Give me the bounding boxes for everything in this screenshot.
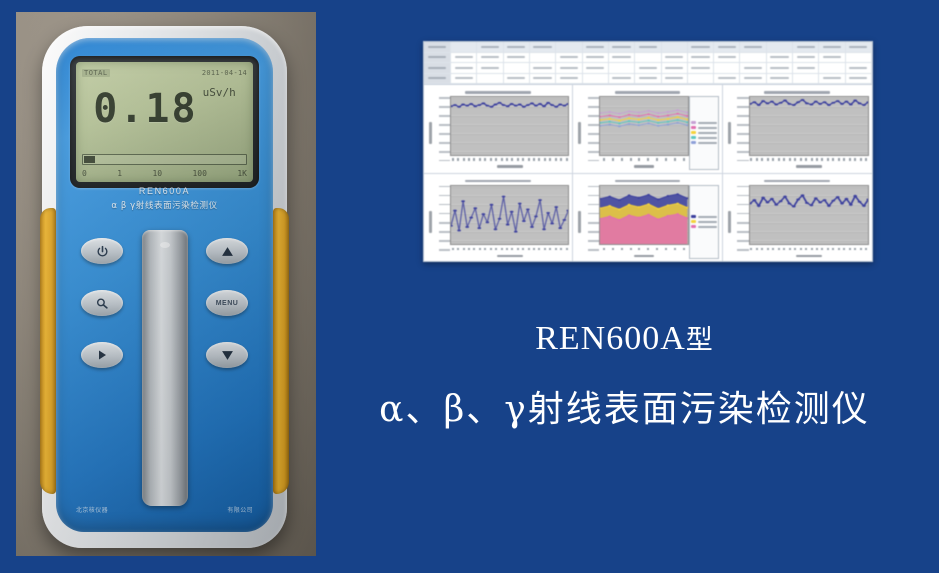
xlabel-text <box>796 255 822 258</box>
table-cell <box>662 63 688 73</box>
chart-plot-area <box>599 96 688 156</box>
table-row-header <box>424 74 451 84</box>
xtick-label <box>501 158 503 161</box>
table-cell <box>635 53 661 63</box>
device-footer-right: 有限公司 <box>227 505 253 514</box>
chart-cell[interactable] <box>723 174 872 263</box>
table-cell <box>451 42 477 52</box>
ytick-label <box>737 231 748 233</box>
xtick-label <box>656 248 658 251</box>
chart-legend <box>689 185 719 260</box>
cell-text <box>481 46 499 48</box>
chart-title <box>726 178 869 185</box>
table-cell <box>662 53 688 63</box>
cell-text <box>533 46 551 48</box>
table-cell <box>740 53 766 63</box>
ytick-label <box>737 213 748 215</box>
cell-text <box>849 46 867 48</box>
xtick-label <box>468 248 470 251</box>
lcd-scale-tick: 1 <box>117 169 122 178</box>
ylabel-text <box>429 211 432 233</box>
table-cell <box>767 74 793 84</box>
software-screenshot-thumbnail <box>423 41 873 262</box>
table-cell <box>530 42 556 52</box>
xtick-label <box>816 248 818 251</box>
chart-cell[interactable] <box>573 174 722 263</box>
xtick-label <box>479 248 481 251</box>
xtick-label <box>555 248 557 251</box>
table-cell <box>819 53 845 63</box>
legend-item <box>691 136 717 139</box>
cell-text <box>770 56 788 58</box>
chart-plot-wrapper <box>450 185 569 260</box>
table-cell <box>504 53 530 63</box>
chart-xaxis <box>749 245 869 253</box>
legend-swatch <box>691 225 696 228</box>
ytick-label <box>439 151 450 153</box>
legend-item <box>691 220 717 223</box>
ytick-label <box>439 160 450 162</box>
xtick-label <box>630 158 632 161</box>
cell-text <box>665 77 683 79</box>
table-cell <box>556 63 582 73</box>
xtick-label <box>511 248 513 251</box>
table-cell <box>635 74 661 84</box>
xtick-label <box>865 158 867 161</box>
table-cell <box>714 53 740 63</box>
cell-text <box>533 67 551 69</box>
ytick-label <box>588 106 599 108</box>
chart-title-text <box>764 180 830 183</box>
chart-plot-area <box>450 185 569 246</box>
xtick-label <box>468 158 470 161</box>
table-cell <box>504 63 530 73</box>
table-cell <box>819 74 845 84</box>
xtick-label <box>612 158 614 161</box>
ytick-label <box>439 186 450 188</box>
chart-title <box>576 178 718 185</box>
xtick-label <box>811 248 813 251</box>
xtick-label <box>560 158 562 161</box>
xtick-label <box>538 158 540 161</box>
xtick-label <box>789 158 791 161</box>
xtick-label <box>860 248 862 251</box>
chart-plot-area <box>450 96 569 156</box>
xtick-label <box>630 248 632 251</box>
table-cell <box>556 42 582 52</box>
table-cell <box>609 53 635 63</box>
xtick-label <box>767 158 769 161</box>
ytick-label <box>439 195 450 197</box>
xtick-label <box>838 248 840 251</box>
legend-item <box>691 126 717 129</box>
xtick-label <box>457 158 459 161</box>
chart-xlabel <box>749 253 869 259</box>
xtick-label <box>683 158 685 161</box>
ytick-label <box>439 213 450 215</box>
cell-text <box>718 56 736 58</box>
chart-plot-area <box>749 185 869 246</box>
chart-yaxis <box>583 96 599 170</box>
xtick-label <box>544 248 546 251</box>
xtick-label <box>506 248 508 251</box>
ytick-label <box>439 222 450 224</box>
table-cell <box>740 63 766 73</box>
legend-label <box>698 216 717 218</box>
cell-text <box>823 56 841 58</box>
xtick-label <box>603 158 605 161</box>
cell-text <box>665 56 683 58</box>
xtick-label <box>854 248 856 251</box>
legend-label <box>698 132 717 134</box>
ylabel-text <box>578 211 581 233</box>
page-title-line2: α、β、γ射线表面污染检测仪 <box>318 380 931 432</box>
table-row <box>424 74 872 85</box>
table-cell <box>609 63 635 73</box>
chart-series-svg <box>600 97 687 155</box>
chart-cell[interactable] <box>424 174 573 263</box>
xtick-label <box>457 248 459 251</box>
cell-text <box>797 46 815 48</box>
ytick-label <box>737 204 748 206</box>
table-cell <box>740 42 766 52</box>
cell-text <box>507 56 525 58</box>
xtick-label <box>490 158 492 161</box>
device-footer-left: 北京核仪器 <box>76 505 108 514</box>
chart-grid <box>424 85 872 262</box>
lcd-statusbar: TOTAL 2011-04-14 <box>82 66 247 79</box>
chart-xaxis <box>599 156 688 164</box>
lcd-scale-tick: 0 <box>82 169 87 178</box>
lcd-bezel: TOTAL 2011-04-14 0.18 uSv/h 0 1 10 10 <box>70 56 259 188</box>
cell-text <box>560 56 578 58</box>
up-key[interactable] <box>206 238 248 264</box>
ytick-label <box>439 124 450 126</box>
ytick-label <box>588 133 599 135</box>
lcd-reading: 0.18 uSv/h <box>76 80 253 138</box>
xlabel-text <box>634 165 654 168</box>
xtick-label <box>484 248 486 251</box>
ytick-label <box>737 142 748 144</box>
cell-text <box>455 77 473 79</box>
xtick-label <box>772 158 774 161</box>
xtick-label <box>538 248 540 251</box>
cell-text <box>744 77 762 79</box>
xtick-label <box>800 158 802 161</box>
chart-title <box>576 89 718 96</box>
cell-text <box>428 56 447 58</box>
chart-body <box>427 185 569 260</box>
table-cell <box>793 53 819 63</box>
table-row-header <box>424 53 451 63</box>
xtick-label <box>838 158 840 161</box>
xtick-label <box>750 248 752 251</box>
table-cell <box>688 53 714 63</box>
table-cell <box>477 63 503 73</box>
lcd-scale-tick: 1K <box>237 169 247 178</box>
cell-text <box>612 46 630 48</box>
cell-text <box>481 56 499 58</box>
chart-cell[interactable] <box>573 85 722 174</box>
chart-body <box>576 185 718 260</box>
xtick-label <box>473 158 475 161</box>
table-cell <box>635 63 661 73</box>
chart-body <box>427 96 569 170</box>
table-cell <box>740 74 766 84</box>
xtick-label <box>566 158 568 161</box>
cell-text <box>797 67 815 69</box>
xtick-label <box>549 158 551 161</box>
xtick-label <box>511 158 513 161</box>
lcd-datetime: 2011-04-14 <box>202 69 247 77</box>
device-faceplate: TOTAL 2011-04-14 0.18 uSv/h 0 1 10 10 <box>56 38 273 532</box>
cell-text <box>691 67 709 69</box>
table-cell <box>477 74 503 84</box>
ytick-label <box>588 124 599 126</box>
ytick-label <box>439 106 450 108</box>
cell-text <box>849 77 867 79</box>
xtick-label <box>603 248 605 251</box>
device-footer: 北京核仪器 有限公司 <box>56 505 273 514</box>
ytick-label <box>588 151 599 153</box>
table-cell <box>504 42 530 52</box>
chart-xaxis <box>749 156 869 164</box>
table-row <box>424 63 872 74</box>
table-cell <box>556 74 582 84</box>
xtick-label <box>463 248 465 251</box>
ytick-label <box>737 186 748 188</box>
chart-plot-wrapper <box>599 185 688 260</box>
xtick-label <box>621 158 623 161</box>
cell-text <box>639 46 657 48</box>
ytick-label <box>588 97 599 99</box>
triangle-down-icon <box>221 350 234 361</box>
xtick-label <box>794 158 796 161</box>
xtick-label <box>647 248 649 251</box>
table-cell <box>477 53 503 63</box>
page-title-line1: REN600A型 <box>318 318 931 358</box>
legend-swatch <box>691 121 696 124</box>
chart-cell[interactable] <box>723 85 872 174</box>
ytick-label <box>588 160 599 162</box>
chart-title-text <box>465 180 530 183</box>
table-cell <box>846 42 872 52</box>
cell-text <box>533 77 551 79</box>
play-icon <box>96 349 108 361</box>
cell-text <box>481 67 499 69</box>
search-key[interactable] <box>81 290 123 316</box>
legend-swatch <box>691 141 696 144</box>
table-cell <box>451 63 477 73</box>
ytick-label <box>737 151 748 153</box>
chart-yaxis <box>434 96 450 170</box>
legend-item <box>691 225 717 228</box>
xtick-label <box>783 248 785 251</box>
cell-text <box>455 67 473 69</box>
xtick-label <box>517 248 519 251</box>
cell-text <box>665 67 683 69</box>
cell-text <box>560 67 578 69</box>
lcd-screen: TOTAL 2011-04-14 0.18 uSv/h 0 1 10 10 <box>76 62 253 182</box>
xtick-label <box>555 158 557 161</box>
keypad-column-left <box>74 238 130 368</box>
cell-text <box>639 77 657 79</box>
table-cell <box>714 42 740 52</box>
xtick-label <box>533 158 535 161</box>
title-block: REN600A型 α、β、γ射线表面污染检测仪 <box>318 318 931 432</box>
table-cell <box>504 74 530 84</box>
legend-item <box>691 141 717 144</box>
table-cell <box>688 63 714 73</box>
xtick-label <box>560 248 562 251</box>
ytick-label <box>439 231 450 233</box>
chart-ylabel <box>726 96 733 170</box>
table-cell <box>583 63 609 73</box>
table-cell <box>583 74 609 84</box>
power-key[interactable] <box>81 238 123 264</box>
chart-body <box>576 96 718 170</box>
table-cell <box>530 53 556 63</box>
legend-item <box>691 131 717 134</box>
data-table <box>424 42 872 85</box>
chart-ylabel <box>726 185 733 260</box>
play-key[interactable] <box>81 342 123 368</box>
xtick-label <box>761 158 763 161</box>
ytick-label <box>737 97 748 99</box>
table-cell <box>635 42 661 52</box>
table-cell <box>793 74 819 84</box>
xtick-label <box>805 158 807 161</box>
cell-text <box>586 56 604 58</box>
chart-body <box>726 96 869 170</box>
chart-xlabel <box>599 253 688 259</box>
xtick-label <box>506 158 508 161</box>
xtick-label <box>854 158 856 161</box>
table-cell <box>583 42 609 52</box>
cell-text <box>797 56 815 58</box>
table-row <box>424 42 872 53</box>
chart-title-text <box>615 91 680 94</box>
xtick-label <box>811 158 813 161</box>
cell-text <box>639 67 657 69</box>
xtick-label <box>533 248 535 251</box>
table-cell <box>556 53 582 63</box>
table-cell <box>662 74 688 84</box>
table-cell <box>767 63 793 73</box>
table-cell <box>767 53 793 63</box>
xtick-label <box>849 158 851 161</box>
xtick-label <box>544 158 546 161</box>
xtick-label <box>549 248 551 251</box>
menu-key-label: MENU <box>216 300 239 307</box>
cell-text <box>586 46 604 48</box>
chart-ylabel <box>576 185 583 260</box>
chart-title <box>726 89 869 96</box>
table-cell <box>583 53 609 63</box>
chart-ylabel <box>427 96 434 170</box>
xtick-label <box>463 158 465 161</box>
xtick-label <box>816 158 818 161</box>
device-keypad: MENU <box>56 238 273 418</box>
xtick-label <box>490 248 492 251</box>
keypad-column-right: MENU <box>199 238 255 368</box>
chart-title-text <box>764 91 830 94</box>
chart-ylabel <box>427 185 434 260</box>
xtick-label <box>528 158 530 161</box>
ytick-label <box>737 124 748 126</box>
chart-series-svg <box>750 186 868 245</box>
legend-swatch <box>691 220 696 223</box>
legend-label <box>698 137 717 139</box>
table-cell <box>767 42 793 52</box>
ylabel-text <box>578 122 581 144</box>
cell-text <box>428 77 447 79</box>
ytick-label <box>737 249 748 251</box>
legend-swatch <box>691 126 696 129</box>
legend-label <box>698 142 717 144</box>
xtick-label <box>756 248 758 251</box>
ytick-label <box>588 240 599 242</box>
xtick-label <box>473 248 475 251</box>
xtick-label <box>638 158 640 161</box>
ytick-label <box>439 142 450 144</box>
ytick-label <box>737 115 748 117</box>
chart-yaxis <box>733 185 749 260</box>
chart-plot-wrapper <box>450 96 569 170</box>
xtick-label <box>843 248 845 251</box>
chart-cell[interactable] <box>424 85 573 174</box>
ytick-label <box>588 115 599 117</box>
chart-yaxis <box>583 185 599 260</box>
table-cell <box>609 74 635 84</box>
chart-plot-wrapper <box>599 96 688 170</box>
device-body: TOTAL 2011-04-14 0.18 uSv/h 0 1 10 10 <box>42 26 287 548</box>
device-chinese-label: α β γ射线表面污染检测仪 <box>56 199 273 211</box>
xtick-label <box>865 248 867 251</box>
chart-xlabel <box>450 164 569 170</box>
menu-key[interactable]: MENU <box>206 290 248 316</box>
device-branding: REN600A α β γ射线表面污染检测仪 <box>56 186 273 211</box>
cell-text <box>718 77 736 79</box>
xlabel-text <box>634 255 654 258</box>
xtick-label <box>566 248 568 251</box>
device-grip-right <box>273 208 289 494</box>
chart-title-text <box>615 180 680 183</box>
xtick-label <box>656 158 658 161</box>
chart-plot-wrapper <box>749 185 869 260</box>
down-key[interactable] <box>206 342 248 368</box>
chart-title <box>427 89 569 96</box>
lcd-scale-tick: 10 <box>152 169 162 178</box>
ytick-label <box>439 240 450 242</box>
xtick-label <box>495 248 497 251</box>
cell-text <box>718 46 736 48</box>
cell-text <box>849 67 867 69</box>
legend-swatch <box>691 136 696 139</box>
xtick-label <box>484 158 486 161</box>
lcd-scale-tick: 100 <box>192 169 206 178</box>
table-cell <box>846 53 872 63</box>
chart-series-svg <box>451 97 568 155</box>
xtick-label <box>827 158 829 161</box>
ylabel-text <box>728 211 731 233</box>
table-row-header <box>424 42 451 52</box>
ytick-label <box>439 133 450 135</box>
xtick-label <box>647 158 649 161</box>
chart-xaxis <box>599 245 688 253</box>
ylabel-text <box>728 122 731 144</box>
legend-label <box>698 226 717 228</box>
